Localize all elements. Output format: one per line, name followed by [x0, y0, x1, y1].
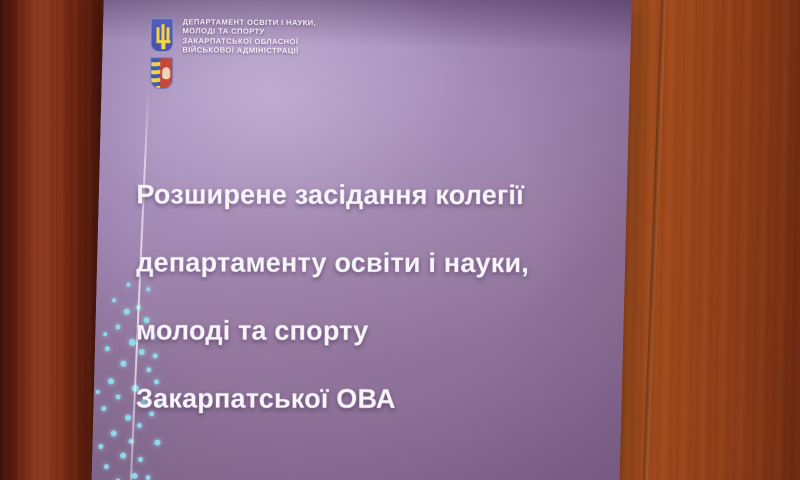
decorative-dot	[111, 430, 117, 436]
decorative-dot	[115, 324, 120, 329]
presentation-photo-scene: ДЕПАРТАМЕНТ ОСВІТИ І НАУКИ, МОЛОДІ ТА СП…	[0, 0, 800, 480]
zakarpattia-coat-of-arms-icon	[150, 57, 173, 89]
decorative-dot	[154, 439, 160, 445]
decorative-dot	[116, 394, 121, 399]
decorative-dot	[112, 298, 116, 302]
title-line-1: Розширене засідання колегії	[136, 160, 606, 229]
decorative-dot	[96, 390, 100, 394]
decorative-dot	[120, 361, 126, 367]
decorative-dot	[101, 406, 106, 411]
title-line-2: департаменту освіти і науки,	[136, 228, 606, 297]
wood-sheen-left	[14, 0, 70, 480]
decorative-dot	[138, 457, 143, 462]
decorative-dot	[103, 332, 107, 336]
title-line-4: Закарпатської ОВА	[136, 364, 606, 433]
decorative-dot	[98, 444, 103, 449]
decorative-dot	[104, 464, 109, 469]
decorative-dot	[146, 475, 151, 480]
decorative-dot	[125, 415, 131, 421]
decorative-dot	[132, 473, 138, 479]
title-line-3: молоді та спорту	[136, 296, 606, 365]
presentation-slide: ДЕПАРТАМЕНТ ОСВІТИ І НАУКИ, МОЛОДІ ТА СП…	[91, 0, 632, 480]
emblem-group	[150, 16, 174, 89]
slide-title: Розширене засідання колегії департаменту…	[136, 160, 606, 433]
ukraine-tryzub-icon	[150, 18, 173, 52]
decorative-dot	[124, 309, 130, 315]
decorative-dot	[105, 346, 110, 351]
decorative-dot	[108, 378, 114, 384]
decorative-dot	[120, 453, 126, 459]
org-line-4: ВІЙСЬКОВОЇ АДМІНІСТРАЦІЇ	[182, 46, 316, 56]
projection-screen: ДЕПАРТАМЕНТ ОСВІТИ І НАУКИ, МОЛОДІ ТА СП…	[91, 0, 632, 480]
slide-header: ДЕПАРТАМЕНТ ОСВІТИ І НАУКИ, МОЛОДІ ТА СП…	[150, 16, 481, 92]
decorative-dot	[126, 283, 130, 287]
organization-name: ДЕПАРТАМЕНТ ОСВІТИ І НАУКИ, МОЛОДІ ТА СП…	[182, 16, 316, 56]
